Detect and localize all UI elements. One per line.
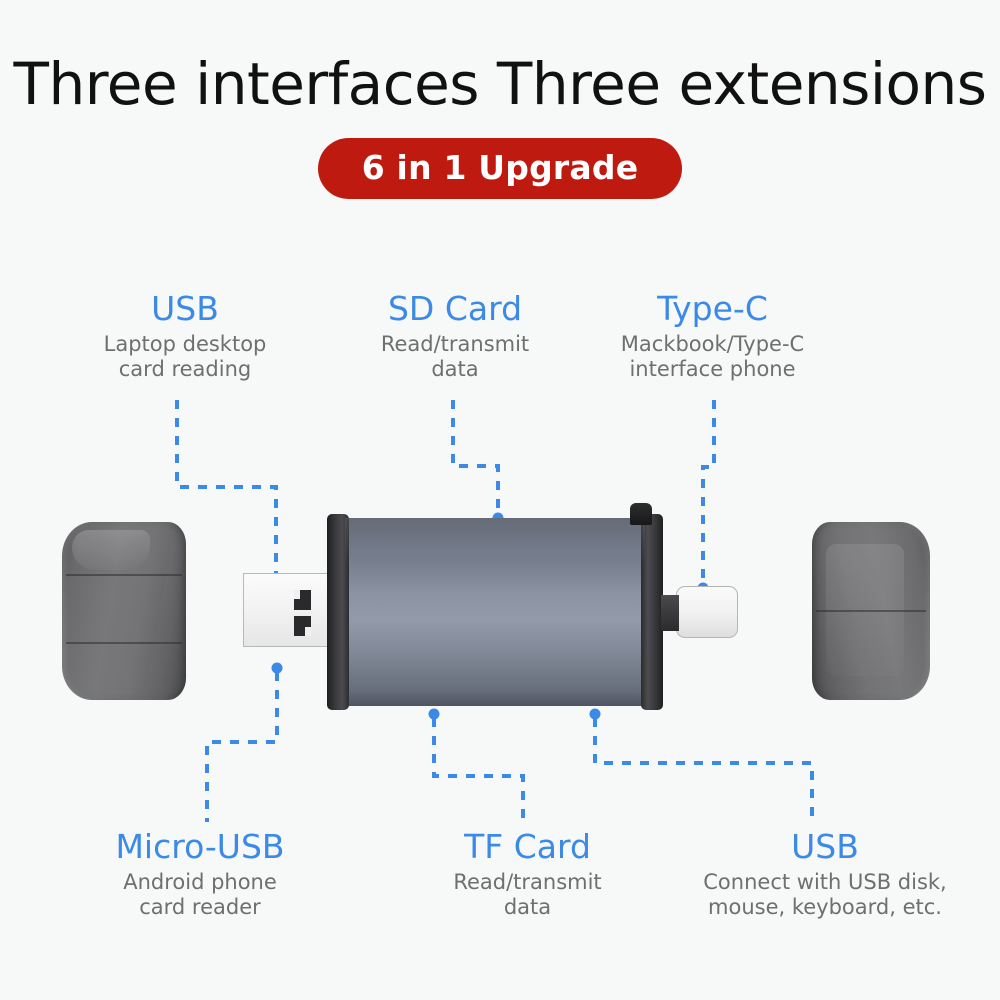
callout-desc-line2: card reader: [35, 895, 365, 920]
left-protective-cap: [62, 522, 186, 700]
callout-title: SD Card: [330, 290, 580, 328]
cap-seam-top: [66, 574, 182, 576]
cap-highlight: [72, 530, 150, 570]
callout-desc-line2: card reading: [40, 357, 330, 382]
callout-title: Type-C: [575, 290, 850, 328]
usb-contact-notch: [305, 627, 311, 636]
callout-desc-line1: Read/transmit: [390, 870, 665, 895]
callout-desc-line1: Laptop desktop: [40, 332, 330, 357]
usb-contact-lower: [294, 616, 311, 636]
callout-title: USB: [655, 828, 995, 866]
callout-desc-line1: Connect with USB disk,: [655, 870, 995, 895]
usb-contact-notch: [294, 590, 300, 599]
callout-desc-line2: mouse, keyboard, etc.: [655, 895, 995, 920]
callout-desc-line2: interface phone: [575, 357, 850, 382]
callout-desc-line1: Android phone: [35, 870, 365, 895]
cap-seam: [816, 610, 926, 612]
callout-usb-bottom: USB Connect with USB disk, mouse, keyboa…: [655, 828, 995, 920]
usb-contact-upper: [294, 590, 311, 610]
callout-desc-line2: data: [390, 895, 665, 920]
callout-tf-card: TF Card Read/transmit data: [390, 828, 665, 920]
type-c-connector: [676, 586, 738, 638]
cap-seam-bottom: [66, 642, 182, 644]
callout-sd-card: SD Card Read/transmit data: [330, 290, 580, 382]
callout-desc-line1: Mackbook/Type-C: [575, 332, 850, 357]
callout-title: USB: [40, 290, 330, 328]
right-protective-cap: [812, 522, 930, 700]
callout-micro-usb: Micro-USB Android phone card reader: [35, 828, 365, 920]
callout-desc-line2: data: [330, 357, 580, 382]
callout-usb-top: USB Laptop desktop card reading: [40, 290, 330, 382]
callout-desc-line1: Read/transmit: [330, 332, 580, 357]
usb-a-connector: [243, 573, 335, 647]
body-top-tab: [630, 503, 652, 525]
type-c-neck: [661, 595, 679, 631]
infographic-page: Three interfaces Three extensions 6 in 1…: [0, 0, 1000, 1000]
callout-title: TF Card: [390, 828, 665, 866]
metal-body: [345, 518, 645, 706]
callout-title: Micro-USB: [35, 828, 365, 866]
body-sheen: [345, 518, 645, 564]
callout-type-c: Type-C Mackbook/Type-C interface phone: [575, 290, 850, 382]
